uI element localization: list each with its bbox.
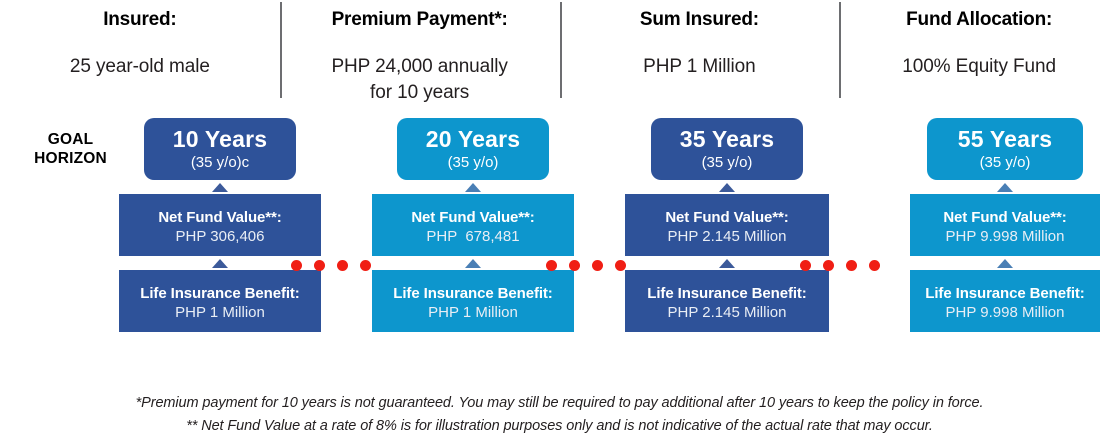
header-column-insured: Insured: 25 year-old male (0, 0, 280, 104)
life-insurance-benefit-box: Life Insurance Benefit: PHP 1 Million (119, 270, 321, 332)
life-insurance-benefit-amount: PHP 1 Million (125, 303, 315, 323)
net-fund-value-amount: PHP 306,406 (125, 227, 315, 247)
age-label: (35 y/o) (702, 153, 753, 172)
net-fund-value-box: Net Fund Value**: PHP 678,481 (372, 194, 574, 256)
timeline-dot-icon (823, 260, 834, 271)
timeline-dot-icon (846, 260, 857, 271)
life-insurance-benefit-title: Life Insurance Benefit: (916, 284, 1094, 303)
life-insurance-benefit-title: Life Insurance Benefit: (378, 284, 568, 303)
year-label: 10 Years (173, 127, 268, 152)
life-insurance-benefit-box: Life Insurance Benefit: PHP 2.145 Millio… (625, 270, 829, 332)
life-insurance-benefit-amount: PHP 1 Million (378, 303, 568, 323)
net-fund-value-amount: PHP 678,481 (378, 227, 568, 247)
year-pill: 10 Years (35 y/o)c (144, 118, 296, 180)
timeline-dot-icon (569, 260, 580, 271)
connector-triangle-icon (465, 259, 481, 268)
timeline-dot-icon (337, 260, 348, 271)
timeline-dot-icon (592, 260, 603, 271)
timeline-dot-group (800, 260, 880, 271)
life-insurance-benefit-box: Life Insurance Benefit: PHP 1 Million (372, 270, 574, 332)
header-title: Insured: (103, 8, 176, 32)
assumptions-header: Insured: 25 year-old male Premium Paymen… (0, 0, 1119, 104)
header-value: 25 year-old male (70, 54, 210, 80)
life-insurance-benefit-amount: PHP 2.145 Million (631, 303, 823, 323)
connector-triangle-icon (465, 183, 481, 192)
header-title: Premium Payment*: (332, 8, 508, 32)
connector-triangle-icon (997, 183, 1013, 192)
year-pill: 55 Years (35 y/o) (927, 118, 1083, 180)
footnote-net-fund-value: ** Net Fund Value at a rate of 8% is for… (0, 415, 1119, 438)
net-fund-value-title: Net Fund Value**: (631, 208, 823, 227)
timeline-column-55-years: 55 Years (35 y/o) Net Fund Value**: PHP … (880, 118, 1119, 332)
net-fund-value-amount: PHP 2.145 Million (631, 227, 823, 247)
footnote-premium: *Premium payment for 10 years is not gua… (0, 392, 1119, 415)
net-fund-value-title: Net Fund Value**: (916, 208, 1094, 227)
timeline-dot-icon (360, 260, 371, 271)
net-fund-value-amount: PHP 9.998 Million (916, 227, 1094, 247)
net-fund-value-title: Net Fund Value**: (378, 208, 568, 227)
connector-triangle-icon (212, 183, 228, 192)
timeline-dot-icon (869, 260, 880, 271)
timeline-columns: 10 Years (35 y/o)c Net Fund Value**: PHP… (0, 118, 1119, 368)
timeline-column-35-years: 35 Years (35 y/o) Net Fund Value**: PHP … (602, 118, 852, 332)
timeline-dot-icon (314, 260, 325, 271)
life-insurance-benefit-title: Life Insurance Benefit: (631, 284, 823, 303)
header-column-premium-payment: Premium Payment*: PHP 24,000 annually fo… (280, 0, 560, 104)
age-label: (35 y/o) (448, 153, 499, 172)
age-label: (35 y/o)c (191, 153, 249, 172)
timeline-dot-icon (615, 260, 626, 271)
year-pill: 35 Years (35 y/o) (651, 118, 803, 180)
year-label: 35 Years (680, 127, 775, 152)
connector-triangle-icon (719, 259, 735, 268)
header-column-fund-allocation: Fund Allocation: 100% Equity Fund (839, 0, 1119, 104)
connector-triangle-icon (997, 259, 1013, 268)
age-label: (35 y/o) (980, 153, 1031, 172)
header-title: Fund Allocation: (906, 8, 1052, 32)
year-label: 20 Years (426, 127, 521, 152)
header-value: 100% Equity Fund (902, 54, 1056, 80)
header-title: Sum Insured: (640, 8, 759, 32)
net-fund-value-box: Net Fund Value**: PHP 2.145 Million (625, 194, 829, 256)
timeline-dot-group (546, 260, 626, 271)
year-label: 55 Years (958, 127, 1053, 152)
life-insurance-benefit-box: Life Insurance Benefit: PHP 9.998 Millio… (910, 270, 1100, 332)
timeline-dot-icon (800, 260, 811, 271)
timeline-column-20-years: 20 Years (35 y/o) Net Fund Value**: PHP … (348, 118, 598, 332)
timeline-column-10-years: 10 Years (35 y/o)c Net Fund Value**: PHP… (95, 118, 345, 332)
net-fund-value-title: Net Fund Value**: (125, 208, 315, 227)
header-value: PHP 1 Million (643, 54, 755, 80)
connector-triangle-icon (212, 259, 228, 268)
header-value: PHP 24,000 annually for 10 years (331, 54, 507, 106)
timeline-dot-group (291, 260, 371, 271)
life-insurance-benefit-title: Life Insurance Benefit: (125, 284, 315, 303)
header-column-sum-insured: Sum Insured: PHP 1 Million (560, 0, 840, 104)
timeline-dot-icon (546, 260, 557, 271)
net-fund-value-box: Net Fund Value**: PHP 306,406 (119, 194, 321, 256)
life-insurance-benefit-amount: PHP 9.998 Million (916, 303, 1094, 323)
footnotes: *Premium payment for 10 years is not gua… (0, 392, 1119, 438)
year-pill: 20 Years (35 y/o) (397, 118, 549, 180)
net-fund-value-box: Net Fund Value**: PHP 9.998 Million (910, 194, 1100, 256)
timeline-dot-icon (291, 260, 302, 271)
connector-triangle-icon (719, 183, 735, 192)
